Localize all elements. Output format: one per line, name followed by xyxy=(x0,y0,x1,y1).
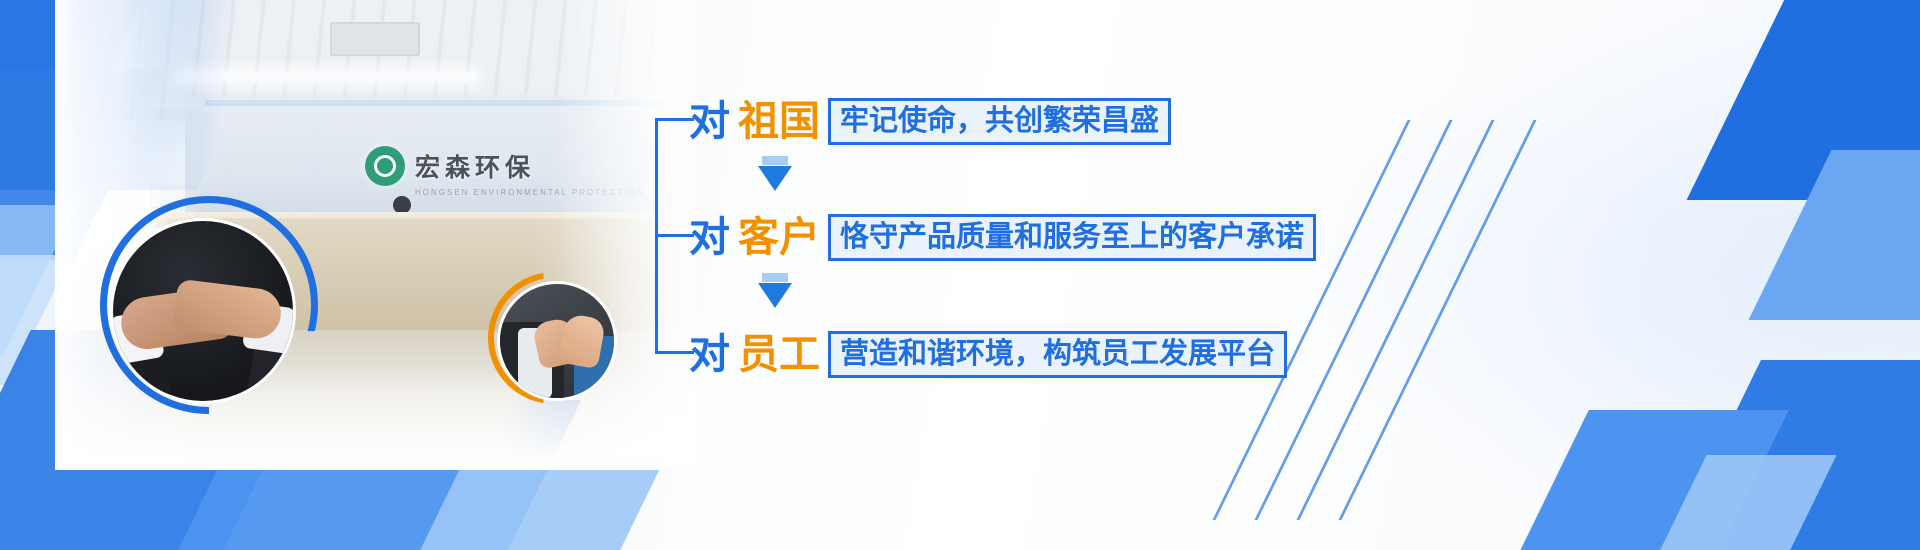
statement-prefix: 对 xyxy=(689,101,730,142)
statement-tag: 营造和谐环境，构筑员工发展平台 xyxy=(828,331,1287,378)
globe-leaf-icon xyxy=(365,146,405,186)
company-culture-banner: 宏森环保 HONGSEN ENVIRONMENTAL PROTECTION xyxy=(0,0,1920,550)
handshake-circle-photo xyxy=(110,218,296,404)
down-arrow-cap xyxy=(762,156,788,165)
down-arrow-icon xyxy=(758,273,792,307)
ceiling-vent xyxy=(330,22,420,56)
statement-row-employee: 对 员工 营造和谐环境，构筑员工发展平台 xyxy=(689,331,1287,378)
statement-prefix: 对 xyxy=(689,334,730,375)
down-arrow-cap xyxy=(762,273,788,282)
statement-tag: 恪守产品质量和服务至上的客户承诺 xyxy=(828,214,1316,261)
bracket-connector xyxy=(655,118,693,354)
statement-tag: 牢记使命，共创繁荣昌盛 xyxy=(828,98,1171,145)
down-arrow-triangle xyxy=(758,283,792,308)
statement-prefix: 对 xyxy=(689,217,730,258)
statement-subject: 祖国 xyxy=(738,101,820,142)
reception-logo-text: 宏森环保 xyxy=(415,148,535,184)
statement-subject: 客户 xyxy=(738,217,820,258)
decor-line-4 xyxy=(1338,120,1536,520)
statement-row-country: 对 祖国 牢记使命，共创繁荣昌盛 xyxy=(689,98,1171,145)
statement-subject: 员工 xyxy=(738,334,820,375)
applause-circle-photo xyxy=(497,281,617,401)
down-arrow-icon xyxy=(758,156,792,190)
down-arrow-triangle xyxy=(758,166,792,191)
culture-statement-list: 对 祖国 牢记使命，共创繁荣昌盛 对 客户 恪守产品质量和服务至上的客户承诺 对… xyxy=(655,84,1355,384)
ceiling-light-strip xyxy=(175,72,475,81)
statement-row-customer: 对 客户 恪守产品质量和服务至上的客户承诺 xyxy=(689,214,1316,261)
